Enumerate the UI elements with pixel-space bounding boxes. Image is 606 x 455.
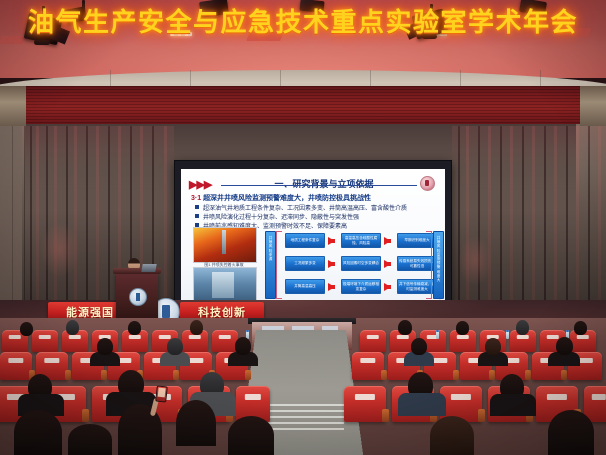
audience-member <box>176 400 216 446</box>
audience-shoulders <box>490 394 536 416</box>
podium-emblem-icon <box>129 288 147 306</box>
audience-member <box>574 321 587 335</box>
seat <box>360 330 386 352</box>
seat <box>352 352 384 380</box>
flow-bracket-right <box>426 231 432 299</box>
audience-member <box>68 424 112 455</box>
chevron-right-icon: ▶▶▶ <box>189 178 211 191</box>
audience-member <box>516 320 529 335</box>
stage-curtain-right <box>452 126 606 314</box>
audience-member <box>456 321 469 335</box>
banner-left-edge <box>0 86 26 126</box>
aisle-step-5 <box>258 404 344 406</box>
podium <box>116 272 158 320</box>
slide-bullet-1: 超深油气井地质工程条件复杂、工况因素多变、井筒高温高压、富含酸性介质 <box>203 203 407 212</box>
flow-box-r2c2: 风险因素时空多变耦合 <box>341 256 381 271</box>
audience-member <box>167 338 183 355</box>
aisle-step-4 <box>258 410 344 412</box>
projection-screen: ▶▶▶ 一、研究背景与立项依据 3·1 超深井井喷风险监测预警难度大，井喷防控极… <box>174 160 452 314</box>
water-bottle <box>506 330 509 339</box>
flow-box-r3c1: 井筒高温高压 <box>285 279 325 294</box>
banner-title-text: 油气生产安全与应急技术重点实验室学术年会 <box>0 0 606 40</box>
smartphone <box>155 385 168 402</box>
flow-arrow-r2c2 <box>384 260 391 268</box>
aisle-step-2 <box>258 422 344 424</box>
slide-title: 一、研究背景与立项依据 <box>249 177 399 190</box>
audience-member <box>398 320 412 335</box>
audience-member <box>20 322 33 336</box>
flow-box-r2c1: 工况频繁多变 <box>285 256 325 271</box>
flow-arrow-r1c2 <box>384 237 391 245</box>
seat <box>344 386 386 422</box>
audience-member <box>235 337 251 355</box>
slide-photo-drilling-rig <box>193 267 257 303</box>
flow-arrow-r3c2 <box>384 283 391 291</box>
slide-header: ▶▶▶ 一、研究背景与立项依据 <box>189 175 437 191</box>
audience-member <box>556 337 573 355</box>
seat <box>0 352 32 380</box>
flow-bracket-left <box>276 231 282 299</box>
slide-subtitle-text: 超深井井喷风险监测预警难度大，井喷防控极具挑战性 <box>203 195 371 202</box>
auditorium-photo: 油气生产安全与应急技术重点实验室学术年会 ▶▶▶ 一、研究背景与立项依据 <box>0 0 606 455</box>
audience-member <box>485 338 501 355</box>
flow-box-r1c1: 地质工程条件复杂 <box>285 233 325 248</box>
audience-member <box>228 416 274 455</box>
flow-box-r1c2: 高温高压含硫酸性腐蚀、风险高 <box>341 233 381 248</box>
audience-member <box>430 416 474 455</box>
seat <box>32 330 58 352</box>
audience-member <box>14 410 62 455</box>
flow-left-rail-label: 井喷风险来源 <box>267 236 274 261</box>
institute-logo-icon <box>420 176 435 191</box>
audience-member <box>128 321 141 335</box>
flow-arrow-r1c1 <box>328 237 335 245</box>
wall-panel-left-2 <box>0 124 13 314</box>
banner-right-edge <box>580 86 606 126</box>
slide-subtitle: 3·1 超深井井喷风险监测预警难度大，井喷防控极具挑战性 <box>191 193 371 203</box>
led-banner <box>0 86 606 126</box>
flow-arrow-r2c1 <box>328 260 335 268</box>
audience-member <box>97 338 113 355</box>
slide-title-rule <box>221 185 417 186</box>
water-bottle <box>436 330 439 339</box>
presentation-slide: ▶▶▶ 一、研究背景与立项依据 3·1 超深井井喷风险监测预警难度大，井喷防控极… <box>181 169 445 305</box>
audience-member <box>66 320 79 335</box>
slide-bullet-2: 井喷风险演化过程十分复杂、迟滞同步、隐蔽性与突发性强 <box>203 212 359 221</box>
podium-laptop <box>141 264 156 272</box>
slide-photo-blowout-fire <box>193 227 257 263</box>
aisle-step-3 <box>258 416 344 418</box>
flow-arrow-r3c1 <box>328 283 335 291</box>
audience-shoulders <box>398 393 446 416</box>
audience-member <box>548 410 594 455</box>
audience-member <box>190 320 203 335</box>
flow-box-r3c2: 极端环境下介质运移相变复杂 <box>341 279 381 294</box>
flow-right-rail-label: 井喷风险监测预警难度大 <box>435 236 442 282</box>
slide-subtitle-index: 3·1 <box>191 195 203 202</box>
flow-left-rail: 井喷风险来源 <box>265 231 276 299</box>
flow-right-rail: 井喷风险监测预警难度大 <box>433 231 444 299</box>
audience-member <box>411 338 427 355</box>
